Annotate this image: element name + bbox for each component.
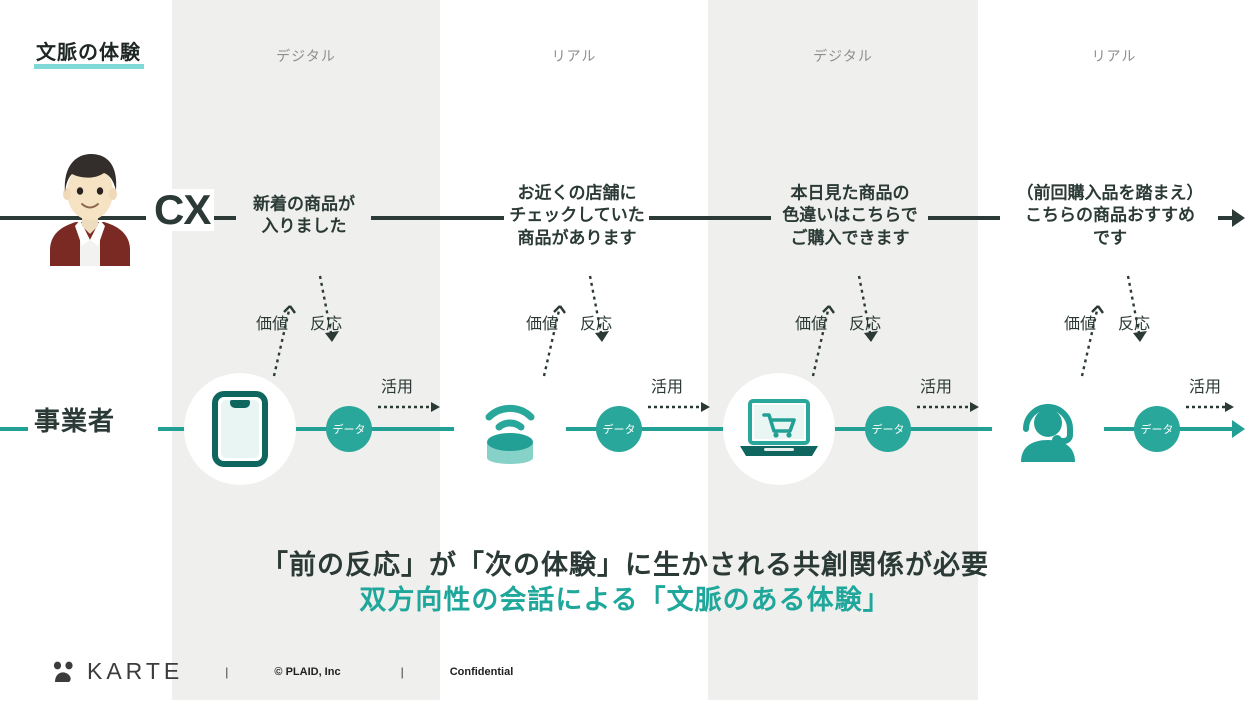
footer: KARTE | © PLAID, Inc | Confidential (52, 658, 513, 685)
annotation-utilize-1: 活用 (381, 373, 413, 397)
cx-line-seg-1 (214, 216, 236, 220)
data-badge-4[interactable]: データ (1134, 406, 1180, 452)
annotation-utilize-3: 活用 (920, 373, 952, 397)
data-badge-label-4: データ (1141, 421, 1174, 437)
annotation-utilize-4: 活用 (1189, 373, 1221, 397)
bottom-message-line2: 双方向性の会話による「文脈のある体験」 (0, 578, 1250, 617)
smartphone-icon (212, 391, 268, 467)
annotation-utilize-2: 活用 (651, 373, 683, 397)
cx-message-1: 新着の商品が 入りました (236, 194, 372, 239)
footer-separator-1: | (225, 665, 228, 679)
channel-node-laptop-cart[interactable] (723, 373, 835, 485)
column-header-1: デジタル (172, 46, 440, 66)
cx-message-4: （前回購入品を踏まえ） こちらの商品おすすめ です (1000, 182, 1220, 249)
cx-line-seg-3 (649, 216, 771, 220)
person-avatar (42, 146, 138, 266)
business-arrow-head (1232, 420, 1245, 438)
cx-arrow-head (1232, 209, 1245, 227)
cx-label: CX (150, 189, 214, 231)
annotation-arrows-3 (775, 272, 905, 382)
business-label-text: 事業者 (34, 408, 121, 434)
column-header-2: リアル (440, 46, 708, 66)
data-badge-label-2: データ (603, 421, 636, 437)
karte-wordmark: KARTE (87, 658, 183, 685)
data-badge-label-3: データ (872, 421, 905, 437)
cx-message-2: お近くの店舗に チェックしていた 商品があります (504, 182, 650, 249)
laptop-cart-icon (738, 398, 820, 460)
bottom-message-line1: 「前の反応」が「次の体験」に生かされる共創関係が必要 (0, 543, 1250, 582)
column-header-3: デジタル (708, 46, 978, 66)
data-badge-3[interactable]: データ (865, 406, 911, 452)
cx-line-seg-4 (928, 216, 1000, 220)
data-badge-2[interactable]: データ (596, 406, 642, 452)
cx-message-3: 本日見た商品の 色違いはこちらで ご購入できます (771, 182, 929, 249)
data-badge-label-1: データ (333, 421, 366, 437)
utilize-arrow-1 (378, 398, 454, 416)
utilize-arrow-3 (917, 398, 993, 416)
cx-line-seg-2 (371, 216, 504, 220)
channel-node-smart-speaker[interactable] (454, 373, 566, 485)
utilize-arrow-4 (1186, 398, 1246, 416)
column-header-4: リアル (978, 46, 1250, 66)
annotation-arrows-1 (236, 272, 366, 382)
smart-speaker-icon (477, 394, 543, 464)
karte-logo-icon (52, 661, 78, 683)
title-underline (34, 64, 144, 69)
support-agent-icon (1013, 396, 1083, 462)
channel-node-support-agent[interactable] (992, 373, 1104, 485)
footer-copyright: © PLAID, Inc (274, 666, 340, 678)
annotation-arrows-2 (506, 272, 636, 382)
slide-canvas: デジタル リアル デジタル リアル 文脈の体験 (0, 0, 1250, 717)
data-badge-1[interactable]: データ (326, 406, 372, 452)
footer-separator-2: | (401, 665, 404, 679)
channel-node-smartphone[interactable] (184, 373, 296, 485)
annotation-arrows-4 (1044, 272, 1174, 382)
utilize-arrow-2 (648, 398, 724, 416)
footer-confidential: Confidential (450, 666, 514, 678)
